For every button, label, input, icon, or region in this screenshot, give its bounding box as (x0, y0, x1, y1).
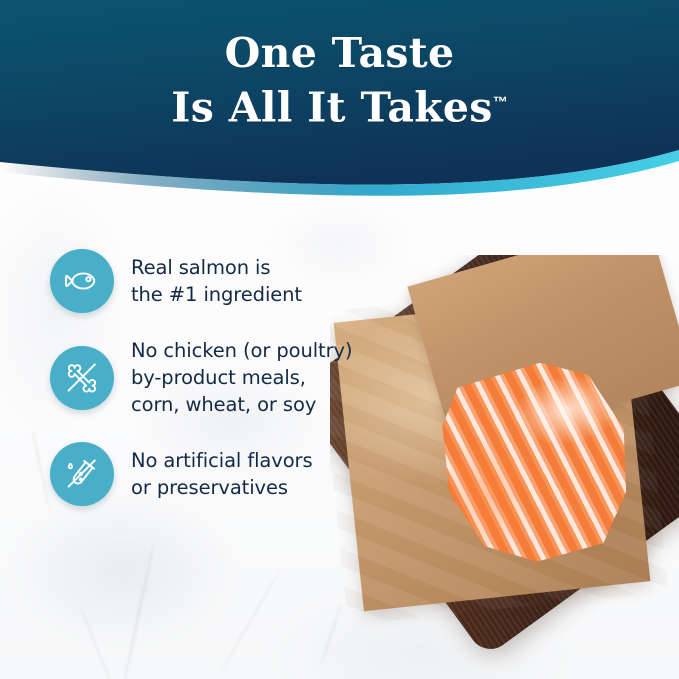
feature-line: No chicken (or poultry) (131, 337, 352, 364)
header-banner: One Taste Is All It Takes™ (0, 0, 679, 215)
feature-line: corn, wheat, or soy (131, 391, 352, 418)
feature-line: the #1 ingredient (131, 281, 302, 308)
no-test-tube-icon-badge (50, 442, 114, 506)
promo-graphic: One Taste Is All It Takes™ Real salmon i… (0, 0, 679, 679)
salmon-fillet (424, 351, 642, 574)
no-bone-icon (61, 357, 103, 399)
fish-icon-badge (50, 249, 114, 313)
feature-item-no-artificial: No artificial flavors or preservatives (50, 442, 410, 506)
feature-item-real-salmon: Real salmon is the #1 ingredient (50, 249, 410, 313)
feature-line: or preservatives (131, 474, 313, 501)
feature-line: No artificial flavors (131, 447, 313, 474)
feature-text-no-artificial: No artificial flavors or preservatives (131, 447, 313, 501)
feature-text-no-chicken: No chicken (or poultry) by-product meals… (131, 337, 352, 418)
feature-line: Real salmon is (131, 254, 302, 281)
feature-line: by-product meals, (131, 364, 352, 391)
feature-list: Real salmon is the #1 ingredient No chic… (50, 249, 410, 506)
header-curve-shape (0, 0, 679, 215)
feature-text-real-salmon: Real salmon is the #1 ingredient (131, 254, 302, 308)
no-test-tube-icon (61, 453, 103, 495)
no-bone-icon-badge (50, 346, 114, 410)
fish-icon (62, 261, 102, 301)
feature-item-no-chicken: No chicken (or poultry) by-product meals… (50, 337, 410, 418)
